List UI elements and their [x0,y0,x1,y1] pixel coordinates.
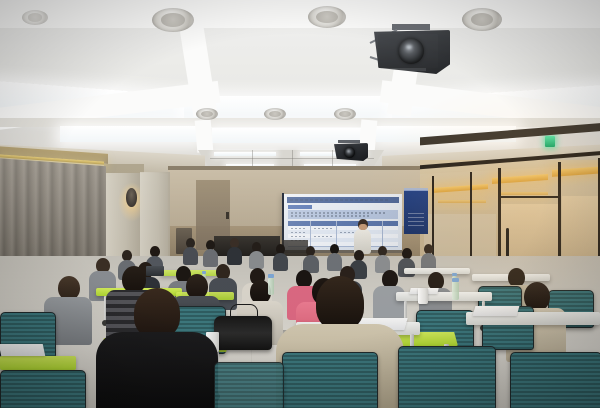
air-diffuser [308,6,346,28]
corridor-light [438,200,486,203]
paper-coffee-cup [418,288,428,304]
table-column-divider [336,221,337,246]
printed-handout [0,344,45,356]
water-bottle [268,278,274,295]
table-cell-text [291,232,305,233]
front-cabinet [214,236,280,256]
ceiling-light-strip [214,152,276,156]
projector-lens [398,38,424,64]
table-column-divider [310,221,311,246]
lime-green-training-table [0,356,76,370]
handbag-handle [230,304,258,319]
table-cell-text [314,228,332,229]
corridor-light [498,192,548,195]
air-diffuser [196,108,218,120]
air-diffuser [334,108,356,120]
bottle-cap [202,271,206,274]
table-cell-text [291,236,305,237]
ceiling-beam [195,119,214,152]
projector-lens [344,147,355,158]
water-bottle [452,282,459,300]
table-cell-text [291,228,305,229]
slide-tab [288,205,312,209]
seminar-room-photo: Corporate seminar room with audience and… [0,0,600,408]
air-diffuser [22,10,48,25]
table-column-divider [382,221,383,246]
column-capital [104,164,144,173]
bottle-cap [268,274,274,278]
banner-top [404,188,428,191]
air-diffuser [264,108,286,120]
door-frame-top [500,196,558,198]
cove-light-panel [60,126,198,142]
black-leather-handbag [214,316,272,350]
slide-body-text [291,212,387,214]
door-handle-icon [226,212,229,219]
wall-trim [168,166,420,170]
table-cell-text [314,236,332,237]
slide-title-text [290,199,390,201]
emergency-exit-sign [545,136,555,147]
front-cabinet [282,240,308,256]
bottle-cap [452,273,457,276]
slide-body-text [291,215,369,217]
air-diffuser [152,8,194,32]
laptop [146,266,164,276]
blue-standing-banner [404,190,428,234]
ceiling-beam [0,0,600,28]
bottle-cap [452,278,459,282]
oval-wall-sconce [126,188,137,207]
air-diffuser [462,8,502,31]
printed-handout [473,306,520,316]
